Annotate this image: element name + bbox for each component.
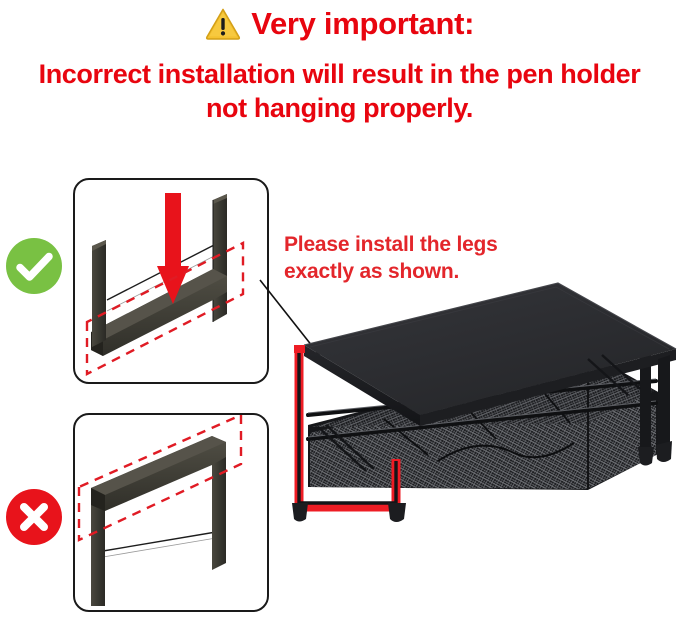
foot-left bbox=[292, 503, 308, 522]
header-body: Incorrect installation will result in th… bbox=[0, 57, 679, 125]
warning-triangle-icon bbox=[205, 7, 241, 45]
callout-line-1: Please install the legs bbox=[284, 231, 498, 258]
header-title-row: Very important: bbox=[0, 6, 679, 45]
check-circle-icon bbox=[6, 238, 62, 294]
panel-correct-installation bbox=[73, 178, 269, 384]
header-title: Very important: bbox=[251, 6, 474, 42]
x-circle-icon bbox=[6, 489, 62, 545]
header-warning-block: Very important: Incorrect installation w… bbox=[0, 0, 679, 140]
panel-incorrect-installation bbox=[73, 413, 269, 612]
frame-bottom-bar bbox=[91, 269, 227, 356]
leg-front-right bbox=[656, 355, 672, 462]
frame-brace-lines bbox=[97, 531, 222, 558]
instruction-graphic: Very important: Incorrect installation w… bbox=[0, 0, 679, 621]
product-image-monitor-stand bbox=[288, 275, 679, 550]
header-body-line-2: not hanging properly. bbox=[0, 91, 679, 125]
foot-right bbox=[388, 503, 406, 522]
header-body-line-1: Incorrect installation will result in th… bbox=[0, 57, 679, 91]
frame-post-left bbox=[92, 240, 106, 347]
